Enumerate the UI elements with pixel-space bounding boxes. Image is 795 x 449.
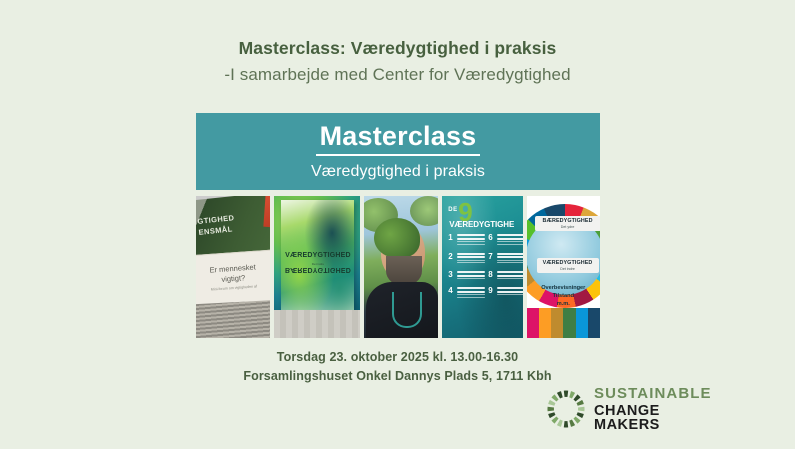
logo-line-2: CHANGE MAKERS <box>594 404 718 433</box>
inner-label: VÆREDYGTIGHED <box>537 260 599 266</box>
poster-item: 6 <box>488 234 522 245</box>
outer-sublabel: Det ydre <box>535 225 600 229</box>
lanyard <box>392 292 422 328</box>
outer-label-box: BÆREDYGTIGHED Det ydre <box>535 216 600 231</box>
logo-line-1: SUSTAINABLE <box>594 386 718 401</box>
green-watercolor-book-photo: VÆREDYGTIGHED Det indre BÆREDYGTIGHED <box>274 196 359 338</box>
de-9-vaeredygtigheder-poster: DE 9 VÆREDYGTIGHE 1 2 3 4 6 7 8 <box>442 196 522 338</box>
sdg-wheel-diagram: BÆREDYGTIGHED Det ydre VÆREDYGTIGHED Det… <box>527 196 600 338</box>
page-title: Masterclass: Væredygtighed i praksis <box>0 38 795 60</box>
cover-title: VÆREDYGTIGHED <box>281 252 354 259</box>
inner-sublabel: Det indre <box>537 267 599 271</box>
poster-column-left: 1 2 3 4 <box>448 234 485 306</box>
sdg-icon-row <box>527 308 600 338</box>
poster-de-label: DE <box>448 207 458 213</box>
moss-hair <box>374 218 420 258</box>
poster-heading: VÆREDYGTIGHE <box>449 220 514 229</box>
slide-canvas: Masterclass: Væredygtighed i praksis -I … <box>0 0 795 449</box>
book-cover-text: GTIGHEDENSMÅL <box>197 212 236 238</box>
poster-item: 9 <box>488 287 522 295</box>
floor-surface <box>274 310 359 338</box>
paper-title: Er mennesketvigtigt? Mini-forum om vigti… <box>196 261 270 293</box>
poster-column-right: 6 7 8 9 <box>488 234 522 303</box>
event-datetime: Torsdag 23. oktober 2025 kl. 13.00-16.30 <box>0 350 795 364</box>
event-location: Forsamlingshuset Onkel Dannys Plads 5, 1… <box>0 369 795 383</box>
tree-right <box>410 196 438 226</box>
cover-title-mirrored: BÆREDYGTIGHED <box>281 266 354 273</box>
banner-title: Masterclass <box>316 122 481 155</box>
book-cover: VÆREDYGTIGHED Det indre BÆREDYGTIGHED <box>281 200 354 310</box>
paper-stack <box>196 300 270 338</box>
logo-wordmark: SUSTAINABLE CHANGE MAKERS <box>594 386 718 433</box>
center-text: OverbevisningerTilstandm.m. <box>527 284 600 308</box>
man-with-moss-portrait-photo <box>364 196 438 338</box>
poster-item: 2 <box>448 253 485 264</box>
event-details: Torsdag 23. oktober 2025 kl. 13.00-16.30… <box>0 350 795 383</box>
inner-label-box: VÆREDYGTIGHED Det indre <box>537 258 599 273</box>
page-subtitle: -I samarbejde med Center for Væredygtigh… <box>0 64 795 86</box>
book-and-paper-photo: GTIGHEDENSMÅL Er mennesketvigtigt? Mini-… <box>196 196 270 338</box>
poster-item: 4 <box>448 287 485 298</box>
photo-strip: GTIGHEDENSMÅL Er mennesketvigtigt? Mini-… <box>196 196 600 338</box>
heading-block: Masterclass: Væredygtighed i praksis -I … <box>0 38 795 86</box>
outer-label: BÆREDYGTIGHED <box>535 218 600 224</box>
sustainable-change-makers-logo: SUSTAINABLE CHANGE MAKERS <box>546 388 718 430</box>
poster-item: 1 <box>448 234 485 245</box>
masterclass-banner: Masterclass Væredygtighed i praksis <box>196 113 600 190</box>
poster-item: 7 <box>488 253 522 264</box>
poster-item: 8 <box>488 271 522 279</box>
segmented-ring-icon <box>546 389 586 429</box>
poster-item: 3 <box>448 271 485 279</box>
banner-subtitle: Væredygtighed i praksis <box>311 163 485 181</box>
